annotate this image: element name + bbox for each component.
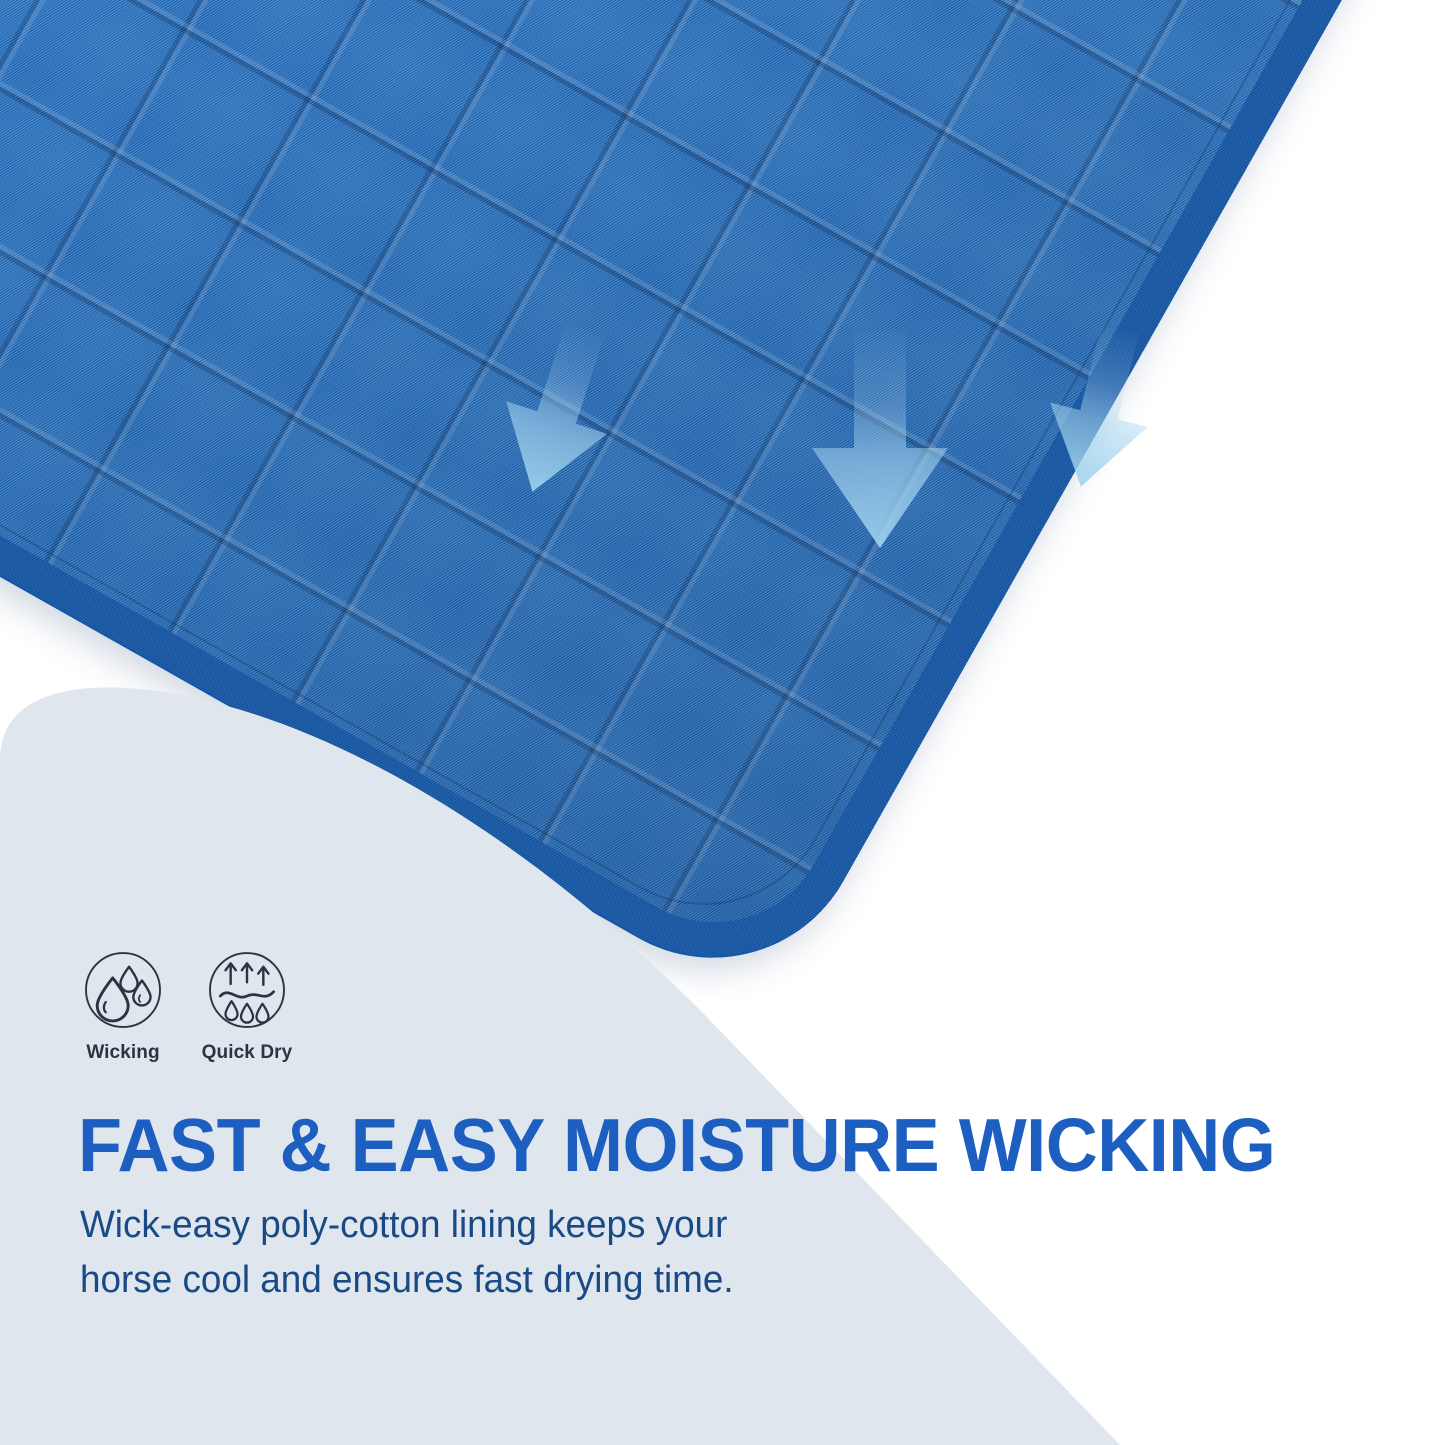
feature-badge-group: Wicking Quick: [72, 947, 298, 1064]
quick-dry-icon: [204, 947, 290, 1033]
badge-wicking: Wicking: [72, 947, 174, 1064]
badge-quick-dry: Quick Dry: [196, 947, 298, 1064]
badge-label-wicking: Wicking: [86, 1042, 159, 1064]
water-droplets-icon: [80, 947, 166, 1033]
badge-label-quick-dry: Quick Dry: [202, 1042, 293, 1064]
subcopy: Wick-easy poly-cotton lining keeps your …: [80, 1198, 778, 1308]
product-feature-banner: Wicking Quick: [0, 0, 1445, 1445]
headline: FAST & EASY MOISTURE WICKING: [78, 1108, 1275, 1183]
